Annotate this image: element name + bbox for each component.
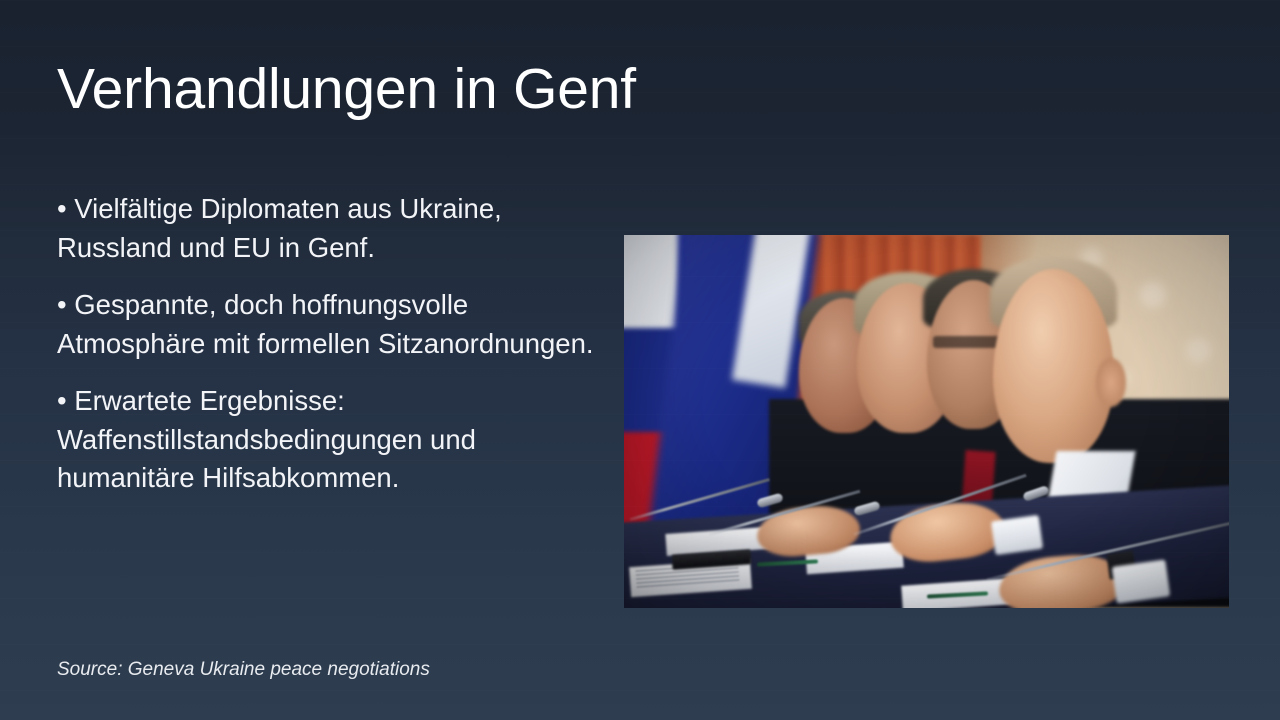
photo-vignette [624, 235, 1229, 608]
negotiation-photo [624, 235, 1229, 608]
bullet-list: • Vielfältige Diplomaten aus Ukraine, Ru… [57, 190, 602, 498]
bullet-item: • Gespannte, doch hoffnungsvolle Atmosph… [57, 286, 602, 363]
bullet-item: • Erwartete Ergebnisse: Waffenstillstand… [57, 382, 602, 498]
slide-title: Verhandlungen in Genf [57, 53, 917, 125]
presentation-slide: Verhandlungen in Genf • Vielfältige Dipl… [0, 0, 1280, 720]
source-caption: Source: Geneva Ukraine peace negotiation… [57, 657, 430, 683]
bullet-item: • Vielfältige Diplomaten aus Ukraine, Ru… [57, 190, 602, 267]
